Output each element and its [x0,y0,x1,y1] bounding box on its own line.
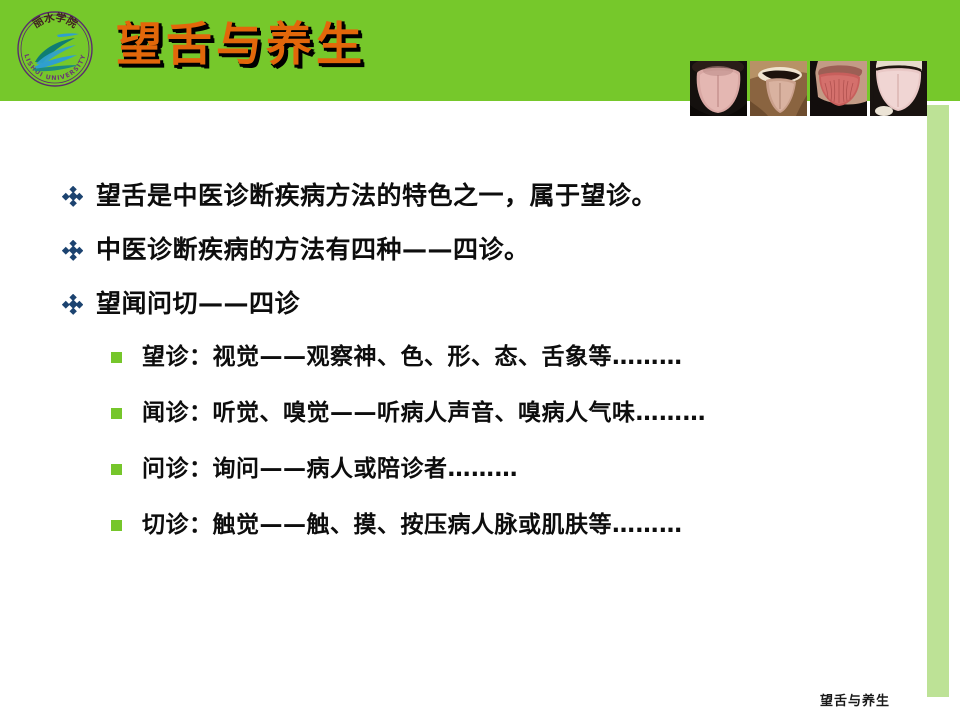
list-item: 切诊：触觉——触、摸、按压病人脉或肌肤等……… [111,509,922,543]
university-logo-icon: 丽水学院 LISHUI UNIVERSITY [13,7,97,91]
list-item: 中医诊断疾病的方法有四种——四诊。 [62,233,922,270]
svg-text:丽水学院: 丽水学院 [31,11,80,31]
diamond-cluster-icon [62,179,96,207]
list-item-label: 切诊：触觉——触、摸、按压病人脉或肌肤等……… [142,509,683,541]
list-item-label: 望诊：视觉——观察神、色、形、态、舌象等……… [142,341,683,373]
bullet-list: 望舌是中医诊断疾病方法的特色之一，属于望诊。 中医诊断疾病的方法有四种——四诊。 [62,179,922,565]
slide-footer: 望舌与养生 [800,690,910,709]
list-item: 问诊：询问——病人或陪诊者……… [111,453,922,487]
presentation-slide: 丽水学院 LISHUI UNIVERSITY 望舌与养生 [0,0,960,720]
list-item: 望诊：视觉——观察神、色、形、态、舌象等……… [111,341,922,375]
green-square-icon [111,397,142,419]
list-item-label: 闻诊：听觉、嗅觉——听病人声音、嗅病人气味……… [142,397,706,429]
list-item-label: 问诊：询问——病人或陪诊者……… [142,453,518,485]
diamond-cluster-icon [62,233,96,261]
list-item: 望舌是中医诊断疾病方法的特色之一，属于望诊。 [62,179,922,216]
right-accent-bar [927,105,949,697]
green-square-icon [111,341,142,363]
sub-bullet-list: 望诊：视觉——观察神、色、形、态、舌象等……… 闻诊：听觉、嗅觉——听病人声音、… [111,341,922,543]
list-item: 闻诊：听觉、嗅觉——听病人声音、嗅病人气味……… [111,397,922,431]
green-square-icon [111,453,142,475]
list-item-label: 中医诊断疾病的方法有四种——四诊。 [96,233,530,267]
list-item-label: 望闻问切——四诊 [96,287,300,321]
green-square-icon [111,509,142,531]
diamond-cluster-icon [62,287,96,315]
list-item: 望闻问切——四诊 [62,287,922,324]
page-title: 望舌与养生 [116,21,366,67]
slide-content: 望舌是中医诊断疾病方法的特色之一，属于望诊。 中医诊断疾病的方法有四种——四诊。 [0,101,927,661]
list-item-label: 望舌是中医诊断疾病方法的特色之一，属于望诊。 [96,179,657,213]
